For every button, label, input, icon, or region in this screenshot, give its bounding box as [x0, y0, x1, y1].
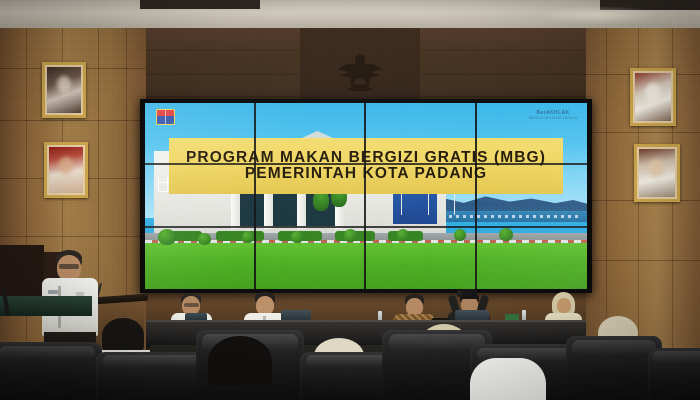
video-wall-bezel — [254, 103, 256, 289]
video-wall[interactable]: BerAKHLAK BANGGA MELAYANI BANGSA PROGRAM… — [140, 99, 592, 293]
shoulder-insignia — [48, 290, 58, 294]
slide-sea-railing — [428, 215, 578, 218]
slide-tree — [499, 228, 513, 241]
eyeglasses-icon — [59, 264, 79, 269]
audience-chair[interactable] — [0, 342, 102, 400]
official-portrait-left-lower — [44, 142, 88, 198]
eyeglasses-icon — [184, 303, 199, 307]
garuda-pancasila-icon — [337, 48, 383, 92]
berakhlak-logo-icon: BerAKHLAK BANGGA MELAYANI BANGSA — [529, 110, 578, 120]
video-wall-display: BerAKHLAK BANGGA MELAYANI BANGSA PROGRAM… — [145, 103, 587, 289]
audience-member — [200, 336, 280, 400]
audience-chair[interactable] — [96, 352, 208, 400]
slide-lawn — [145, 243, 587, 290]
camera-icon — [461, 289, 477, 299]
berakhlak-tagline: BANGGA MELAYANI BANGSA — [529, 116, 578, 120]
padang-city-emblem-icon — [156, 109, 175, 125]
audience-member — [470, 358, 546, 400]
audience-chair[interactable] — [648, 348, 700, 400]
video-wall-bezel — [364, 103, 366, 289]
audience-shirt — [470, 358, 546, 400]
slide-tree — [397, 229, 409, 241]
official-portrait-right-upper — [630, 68, 676, 126]
video-wall-bezel — [145, 163, 587, 165]
slide-tree — [291, 231, 303, 243]
ceiling-recess-left — [140, 0, 260, 9]
ceiling-light-glow — [540, 6, 660, 24]
official-portrait-right-lower — [634, 144, 680, 202]
side-desk — [0, 296, 92, 316]
slide-tree — [198, 233, 211, 245]
meeting-room-photo: BerAKHLAK BANGGA MELAYANI BANGSA PROGRAM… — [0, 0, 700, 400]
slide-tree — [344, 229, 357, 242]
official-portrait-left-upper — [42, 62, 86, 118]
video-wall-bezel — [145, 226, 587, 228]
slide-blue-panel — [393, 194, 437, 224]
video-wall-bezel — [475, 103, 477, 289]
